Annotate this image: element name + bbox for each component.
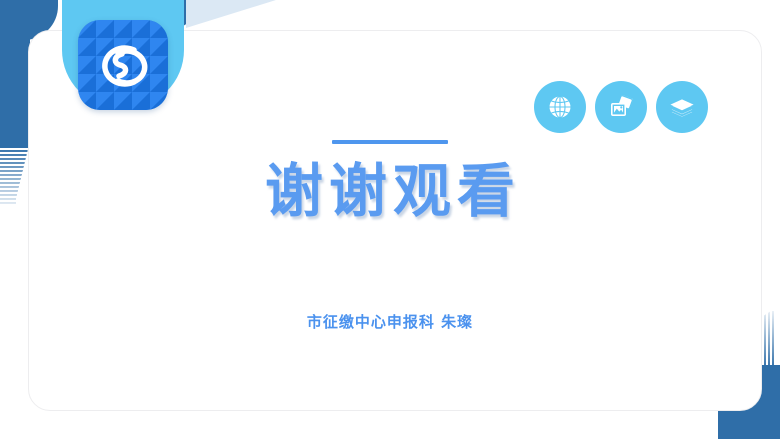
globe-icon[interactable] <box>534 81 586 133</box>
left-vertical-bar-decoration <box>0 0 30 148</box>
photos-icon[interactable] <box>595 81 647 133</box>
title-rule <box>332 140 448 144</box>
page-title: 谢谢观看 <box>0 158 780 225</box>
layers-icon[interactable] <box>656 81 708 133</box>
title-block: 谢谢观看 <box>0 140 780 225</box>
csi-logo <box>78 20 168 110</box>
top-parallelogram-pale-decoration <box>186 0 276 28</box>
icon-row <box>534 81 708 133</box>
slide-canvas: 谢谢观看 市征缴中心申报科 朱璨 <box>0 0 780 439</box>
presenter-subtitle: 市征缴中心申报科 朱璨 <box>0 311 780 332</box>
